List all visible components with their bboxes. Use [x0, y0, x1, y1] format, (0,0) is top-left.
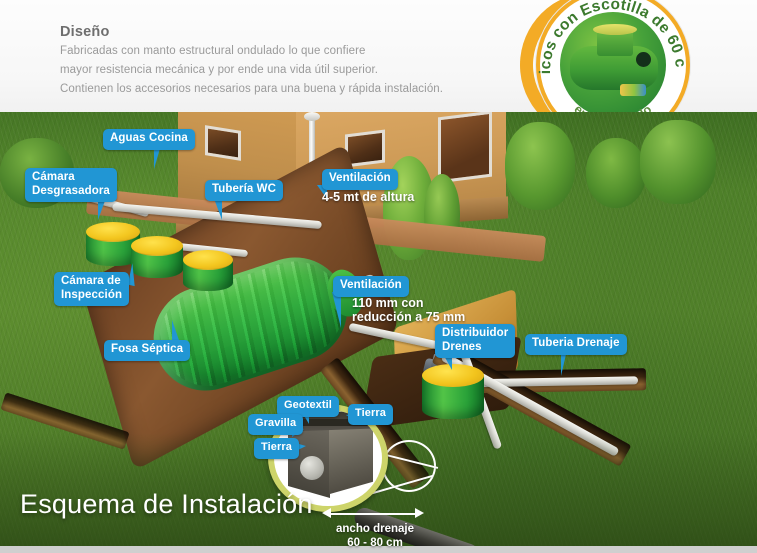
dimension-value: 60 - 80 cm — [320, 537, 430, 549]
header-line-1: Fabricadas con manto estructural ondulad… — [60, 45, 366, 57]
vent-pipe-cap — [304, 112, 320, 121]
label-tierra-right[interactable]: Tierra — [348, 404, 393, 425]
bush-3 — [505, 122, 575, 210]
scene-title: Esquema de Instalación — [20, 489, 313, 520]
third-chamber — [183, 250, 233, 294]
arrow-right-icon — [415, 508, 424, 518]
inspection-chamber-lid — [131, 236, 183, 256]
house-window-1 — [205, 125, 241, 161]
header-line-3: Contienen los accesorios necesarios para… — [60, 83, 443, 95]
label-fosa-septica[interactable]: Fosa Séptica — [104, 340, 190, 361]
label-camara-inspeccion[interactable]: Cámara de Inspección — [54, 272, 129, 306]
header-line-2: mayor resistencia mecánica y por ende un… — [60, 64, 378, 76]
label-distribuidor-drenes[interactable]: Distribuidor Drenes — [435, 324, 515, 358]
bush-5 — [640, 120, 716, 204]
drain-distributor — [422, 364, 484, 422]
dimension-label: ancho drenaje — [320, 523, 430, 535]
installation-diagram-page: Diseño Fabricadas con manto estructural … — [0, 0, 757, 553]
label-aguas-cocina[interactable]: Aguas Cocina — [103, 129, 195, 150]
arrow-left-icon — [322, 508, 331, 518]
label-ventilacion-110mm-detail: 110 mm con reducción a 75 mm — [352, 296, 465, 324]
house-door — [438, 112, 492, 183]
header-title: Diseño — [60, 24, 110, 40]
label-ventilacion-altura[interactable]: Ventilación — [322, 169, 398, 190]
third-chamber-lid — [183, 250, 233, 270]
badge-top-text: Únicos con Escotilla de 60 cms. — [536, 0, 689, 74]
drain-distributor-lid — [422, 364, 484, 387]
cross-section-pipe — [300, 456, 324, 480]
label-ventilacion-110mm-tail — [330, 292, 341, 328]
label-tierra-left[interactable]: Tierra — [254, 438, 299, 459]
label-ventilacion-altura-detail: 4-5 mt de altura — [322, 190, 414, 204]
label-tuberia-wc[interactable]: Tubería WC — [205, 180, 283, 201]
label-camara-desgrasadora[interactable]: Cámara Desgrasadora — [25, 168, 117, 202]
label-ventilacion-110mm[interactable]: Ventilación — [333, 276, 409, 297]
label-tuberia-drenaje[interactable]: Tuberia Drenaje — [525, 334, 627, 355]
dimension-line — [330, 513, 416, 515]
bush-4 — [586, 138, 646, 208]
label-gravilla[interactable]: Gravilla — [248, 414, 303, 435]
installation-scene: Aguas Cocina Cámara Desgrasadora Tubería… — [0, 112, 757, 553]
